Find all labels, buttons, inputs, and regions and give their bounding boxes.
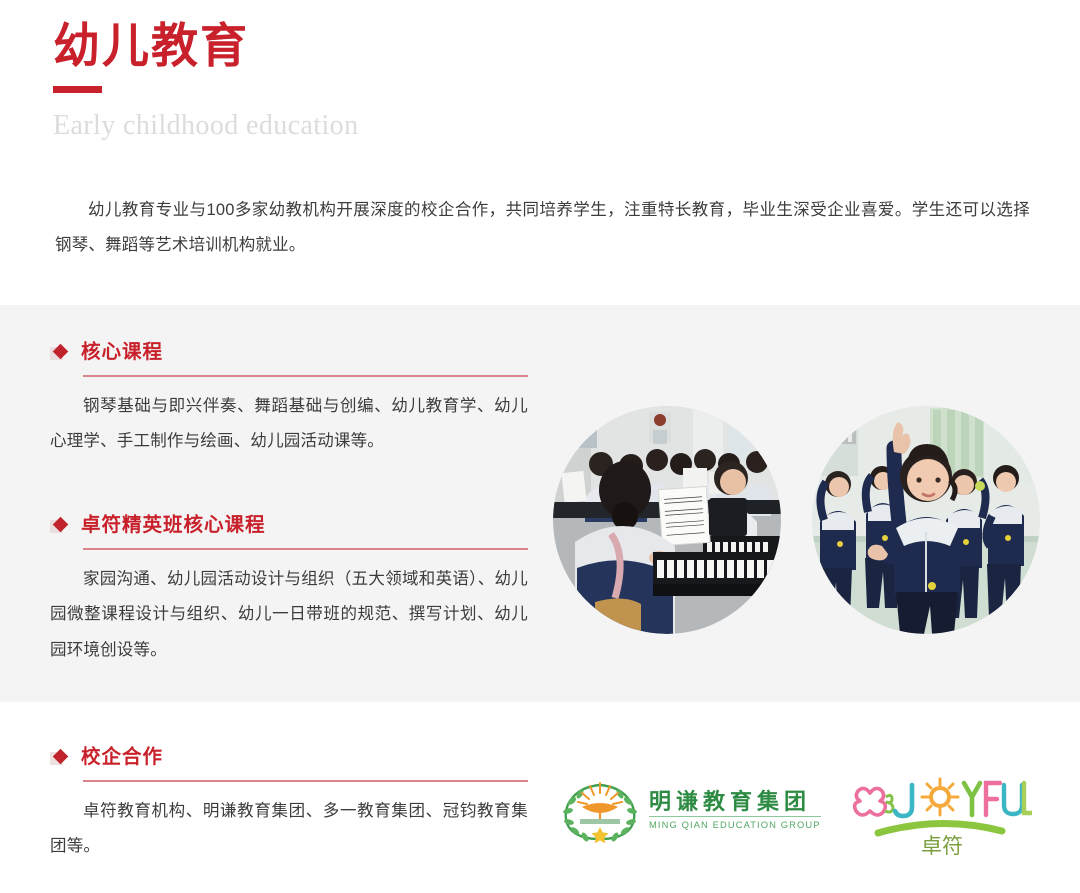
page-subtitle: Early childhood education [53,112,953,140]
page-title: 幼儿教育 [53,20,953,73]
page-header: 幼儿教育 Early childhood education [53,20,953,140]
diamond-bullet-icon [50,518,72,534]
ming-qian-chinese-name: 明谦教育集团 [649,789,821,815]
photo-piano-classroom [553,406,781,634]
piano-classroom-illustration [553,406,781,634]
diamond-bullet-icon [50,750,72,766]
section-divider [83,548,528,550]
partner-logos: 明谦教育集团 MING QIAN EDUCATION GROUP [560,775,1040,860]
logo-joyful-zhuofu: 卓符 [852,775,1032,857]
ming-qian-english-name: MING QIAN EDUCATION GROUP [649,816,821,830]
section-core-courses: 核心课程 钢琴基础与即兴伴奏、舞蹈基础与创编、幼儿教育学、幼儿心理学、手工制作与… [50,340,528,460]
intro-paragraph: 幼儿教育专业与100多家幼教机构开展深度的校企合作，共同培养学生，注重特长教育，… [55,193,1030,262]
section-heading: 卓符精英班核心课程 [50,513,528,539]
diamond-bullet-icon [50,345,72,361]
joyful-handwritten-logo-icon: 卓符 [852,775,1032,857]
section-heading: 核心课程 [50,340,528,366]
page-root: 幼儿教育 Early childhood education 幼儿教育专业与10… [0,0,1080,893]
title-underline-bar [53,86,102,93]
laurel-wreath-emblem-icon [560,777,640,843]
section-title-elite-courses: 卓符精英班核心课程 [81,516,266,536]
section-heading: 校企合作 [50,745,528,771]
section-divider [83,780,528,782]
photo-dance-class [812,406,1040,634]
section-divider [83,375,528,377]
section-body-elite-courses: 家园沟通、幼儿园活动设计与组织（五大领域和英语）、幼儿园微整课程设计与组织、幼儿… [50,562,528,668]
joyful-chinese-name: 卓符 [921,834,963,857]
section-title-cooperation: 校企合作 [81,748,163,768]
dance-class-illustration [812,406,1040,634]
section-body-core-courses: 钢琴基础与即兴伴奏、舞蹈基础与创编、幼儿教育学、幼儿心理学、手工制作与绘画、幼儿… [50,389,528,460]
section-school-enterprise-cooperation: 校企合作 卓符教育机构、明谦教育集团、多一教育集团、冠钧教育集团等。 [50,745,528,865]
ming-qian-text-block: 明谦教育集团 MING QIAN EDUCATION GROUP [649,789,821,830]
logo-ming-qian-education-group: 明谦教育集团 MING QIAN EDUCATION GROUP [560,777,821,843]
section-elite-courses: 卓符精英班核心课程 家园沟通、幼儿园活动设计与组织（五大领域和英语）、幼儿园微整… [50,513,528,668]
section-body-cooperation: 卓符教育机构、明谦教育集团、多一教育集团、冠钧教育集团等。 [50,794,528,865]
section-title-core-courses: 核心课程 [81,343,163,363]
